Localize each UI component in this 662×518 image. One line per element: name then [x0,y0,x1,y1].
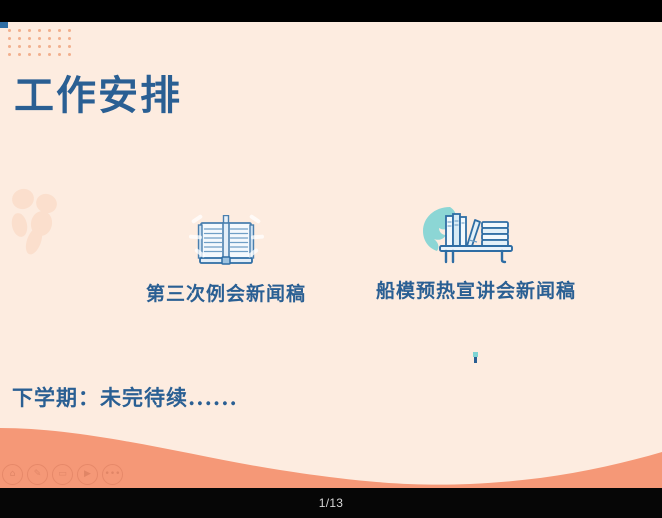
page-indicator: 1/13 [0,488,662,518]
dot-grid-icon [4,26,74,58]
sparkle-rays-icon [189,211,263,267]
content-item-1: 第三次例会新闻稿 [116,207,336,306]
viewer-bottom-bar: 1/13 [0,488,662,518]
screen-icon[interactable]: ▭ [52,464,73,485]
content-item-label: 第三次例会新闻稿 [116,279,336,306]
icon-container [345,204,607,264]
more-icon[interactable]: ••• [102,464,123,485]
page-title: 工作安排 [14,76,182,116]
viewer-top-bar [0,0,662,22]
icon-container [116,207,336,267]
home-icon[interactable]: ⌂ [2,464,23,485]
caret-marker-icon [473,352,478,363]
content-item-label: 船模预热宣讲会新闻稿 [345,276,607,303]
petal-cluster-icon [2,185,72,250]
presentation-viewer: 工作安排 [0,0,662,518]
bookshelf-icon [434,208,518,264]
pointer-icon[interactable]: ✎ [27,464,48,485]
video-icon[interactable]: ▶ [77,464,98,485]
slide-canvas: 工作安排 [0,22,662,488]
slide-mini-toolbar[interactable]: ⌂ ✎ ▭ ▶ ••• [2,464,123,485]
content-item-2: 船模预热宣讲会新闻稿 [345,204,607,303]
